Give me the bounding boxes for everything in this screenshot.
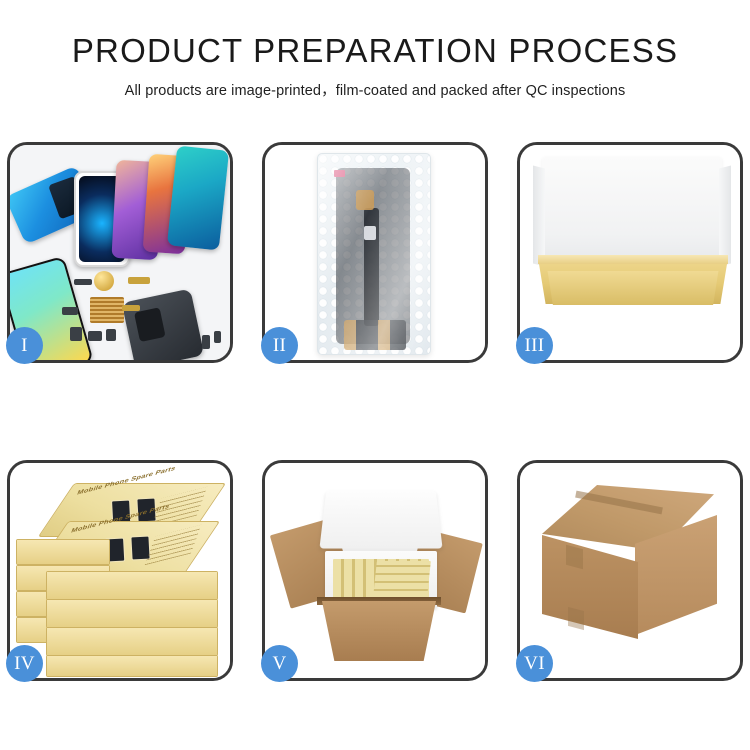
step-badge-2: II — [261, 327, 298, 364]
small-part-f — [122, 305, 140, 311]
step-panel-3[interactable]: III — [517, 142, 743, 363]
small-part-e — [106, 329, 116, 341]
gold-box-front-4 — [46, 655, 218, 677]
foam-box-lid — [319, 491, 442, 549]
phone-back-housing — [122, 288, 205, 360]
step-badge-1: I — [6, 327, 43, 364]
box-spec-lines-2 — [145, 525, 202, 565]
carton-tab-upper — [566, 545, 583, 570]
step-badge-4: IV — [6, 645, 43, 682]
gold-box-front-3 — [46, 627, 218, 656]
inner-box-lid — [542, 157, 722, 267]
small-part-i — [214, 331, 221, 343]
step-2-image — [265, 145, 485, 360]
inner-box-lip — [538, 255, 728, 264]
page-subtitle: All products are image-printed，film-coat… — [0, 79, 750, 100]
carton-tab-lower — [568, 607, 584, 630]
step-6-image — [520, 463, 740, 678]
small-part-c — [70, 327, 82, 341]
small-part-d — [88, 331, 102, 341]
step-1-image — [10, 145, 230, 360]
gold-box-front-2 — [46, 599, 218, 628]
bubble-gloss-overlay — [318, 154, 430, 354]
inner-box-front — [544, 271, 722, 305]
product-preparation-page: PRODUCT PREPARATION PROCESS All products… — [0, 0, 750, 750]
carton-body — [317, 601, 441, 661]
packed-gold-boxes-side — [373, 561, 431, 597]
step-badge-3: III — [516, 327, 553, 364]
page-header: PRODUCT PREPARATION PROCESS All products… — [0, 0, 750, 100]
step-5-image — [265, 463, 485, 678]
connector-mesh-part — [90, 297, 124, 323]
bubble-wrap-bag — [317, 153, 431, 355]
small-part-g — [62, 307, 78, 315]
step-panel-6[interactable]: VI — [517, 460, 743, 681]
gold-box-stack: Mobile Phone Spare Parts Mobile Phone Sp… — [16, 479, 222, 671]
step-3-image — [520, 145, 740, 360]
step-panel-1[interactable]: I — [7, 142, 233, 363]
sealed-carton-front — [542, 535, 638, 639]
process-step-grid: I II — [7, 142, 743, 681]
small-part-h — [202, 335, 210, 349]
step-panel-2[interactable]: II — [262, 142, 488, 363]
small-part-a — [74, 279, 92, 285]
gold-box-layer-1 — [16, 539, 110, 565]
step-badge-5: V — [261, 645, 298, 682]
step-4-image: Mobile Phone Spare Parts Mobile Phone Sp… — [10, 463, 230, 678]
small-part-b — [128, 277, 150, 284]
gold-box-front-1 — [46, 571, 218, 600]
gold-coil-part — [94, 271, 114, 291]
page-title: PRODUCT PREPARATION PROCESS — [0, 34, 750, 67]
phone-teal — [167, 146, 229, 251]
step-panel-4[interactable]: Mobile Phone Spare Parts Mobile Phone Sp… — [7, 460, 233, 681]
step-panel-5[interactable]: V — [262, 460, 488, 681]
step-badge-6: VI — [516, 645, 553, 682]
box-label-1: Mobile Phone Spare Parts — [76, 465, 177, 497]
